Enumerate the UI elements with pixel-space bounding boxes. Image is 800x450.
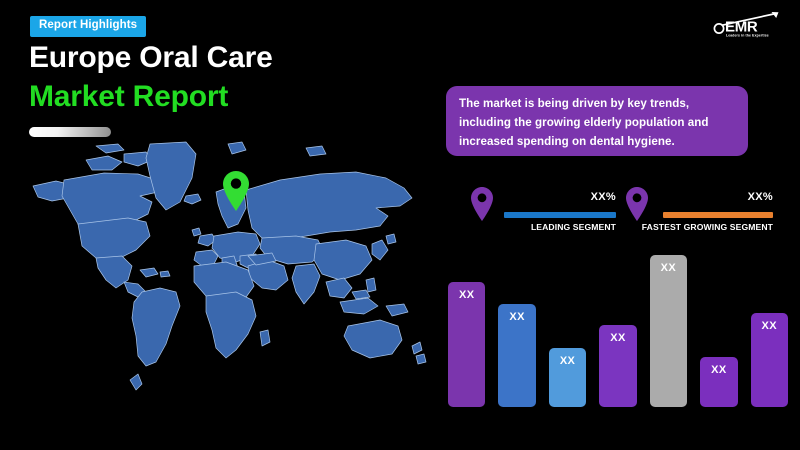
chart-bar-label: XX <box>762 320 777 332</box>
page-title-line-2: Market Report <box>29 81 228 113</box>
chart-bar-label: XX <box>711 364 726 376</box>
chart-bar: XX <box>549 348 586 407</box>
report-highlights-badge: Report Highlights <box>30 16 146 37</box>
chart-bar: XX <box>599 325 636 407</box>
chart-bar: XX <box>448 282 485 407</box>
legend-item-leading-segment: XX% LEADING SEGMENT <box>470 186 616 238</box>
map-location-pin-icon <box>222 170 250 212</box>
chart-bar: XX <box>700 357 737 407</box>
bar-chart: XXXXXXXXXXXXXX <box>448 255 788 407</box>
callout-box: The market is being driven by key trends… <box>446 86 748 156</box>
world-map <box>0 140 440 425</box>
legend-label-fastest: FASTEST GROWING SEGMENT <box>642 222 773 232</box>
legend-percent-fastest: XX% <box>748 191 773 203</box>
page-title-line-1: Europe Oral Care <box>29 42 273 74</box>
legend-location-pin-icon <box>470 186 494 222</box>
legend-location-pin-icon <box>625 186 649 222</box>
legend-label-leading: LEADING SEGMENT <box>531 222 616 232</box>
legend-percent-leading: XX% <box>591 191 616 203</box>
legend-bar-leading <box>504 212 616 218</box>
svg-text:Leaders in the Expertise: Leaders in the Expertise <box>726 34 769 38</box>
callout-text: The market is being driven by key trends… <box>459 95 735 151</box>
chart-bar-label: XX <box>610 332 625 344</box>
legend-bar-fastest <box>663 212 773 218</box>
chart-bar: XX <box>650 255 687 407</box>
emr-logo: EMR Leaders in the Expertise <box>712 10 788 40</box>
chart-bar: XX <box>751 313 788 407</box>
chart-bar-label: XX <box>459 289 474 301</box>
legend-item-fastest-growing-segment: XX% FASTEST GROWING SEGMENT <box>625 186 773 238</box>
chart-bar: XX <box>498 304 535 407</box>
chart-bar-label: XX <box>661 262 676 274</box>
title-underline-divider <box>29 127 111 137</box>
chart-bar-label: XX <box>509 311 524 323</box>
chart-bar-label: XX <box>560 355 575 367</box>
